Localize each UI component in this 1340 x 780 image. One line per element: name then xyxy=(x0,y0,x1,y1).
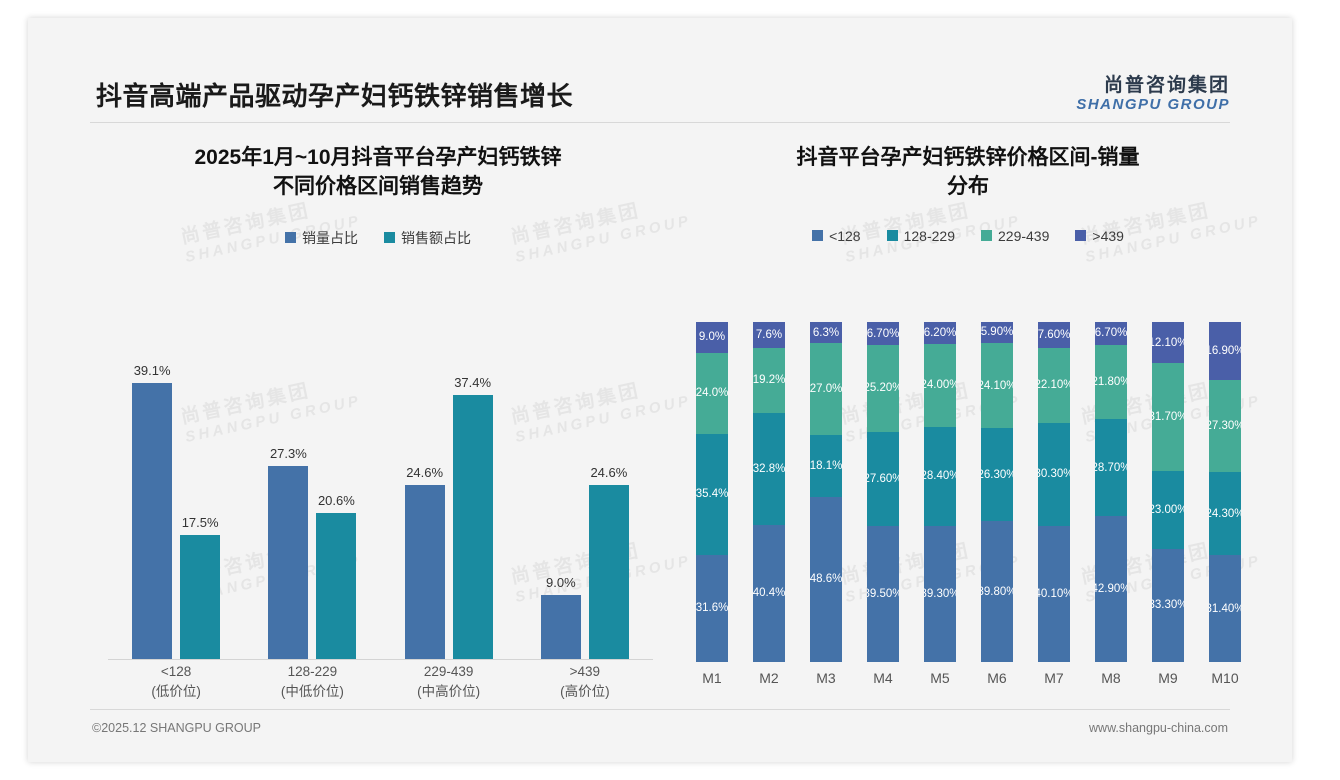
stack-segment[interactable]: 21.80% xyxy=(1095,345,1127,419)
header-divider xyxy=(90,122,1230,123)
stack-segment[interactable]: 28.40% xyxy=(924,427,956,526)
left-chart-plot-area: 39.1%17.5%27.3%20.6%24.6%37.4%9.0%24.6% … xyxy=(108,302,653,702)
stacked-bar[interactable]: 6.20%24.00%28.40%39.30% xyxy=(924,322,956,662)
logo-text-en: SHANGPU GROUP xyxy=(1076,96,1230,113)
stack-segment[interactable]: 24.0% xyxy=(696,353,728,435)
stacked-bar[interactable]: 12.10%31.70%23.00%33.30% xyxy=(1152,322,1184,662)
legend-swatch-icon xyxy=(384,232,395,243)
legend-label: 229-439 xyxy=(998,228,1049,244)
stack-segment[interactable]: 31.6% xyxy=(696,555,728,662)
bar-value-label: 20.6% xyxy=(318,493,355,508)
x-tick-label: M4 xyxy=(867,670,899,694)
left-chart-title: 2025年1月~10月抖音平台孕产妇钙铁锌 不同价格区间销售趋势 xyxy=(88,144,668,202)
legend-swatch-icon xyxy=(887,230,898,241)
bar-value-label: 37.4% xyxy=(454,375,491,390)
stacked-bar[interactable]: 7.60%22.10%30.30%40.10% xyxy=(1038,322,1070,662)
stacked-bar[interactable]: 16.90%27.30%24.30%31.40% xyxy=(1209,322,1241,662)
stack-segment[interactable]: 39.50% xyxy=(867,526,899,662)
bar-group: 24.6%37.4% xyxy=(405,301,493,659)
stack-segment[interactable]: 6.70% xyxy=(1095,322,1127,345)
right-chart-legend-item[interactable]: >439 xyxy=(1075,228,1124,244)
bar-value-label: 39.1% xyxy=(134,363,171,378)
bar-value-label: 24.6% xyxy=(590,465,627,480)
legend-swatch-icon xyxy=(285,232,296,243)
stack-segment[interactable]: 7.60% xyxy=(1038,322,1070,348)
stack-segment[interactable]: 31.40% xyxy=(1209,555,1241,662)
stack-segment[interactable]: 31.70% xyxy=(1152,363,1184,471)
stack-segment[interactable]: 24.30% xyxy=(1209,472,1241,555)
footer-copyright: ©2025.12 SHANGPU GROUP xyxy=(92,721,261,735)
bar-column[interactable]: 24.6% xyxy=(589,301,629,659)
x-tick-label: M6 xyxy=(981,670,1013,694)
stack-segment[interactable]: 7.6% xyxy=(753,322,785,348)
bar[interactable] xyxy=(453,395,493,659)
bar[interactable] xyxy=(541,595,581,659)
legend-label: >439 xyxy=(1092,228,1124,244)
left-chart-title-line1: 2025年1月~10月抖音平台孕产妇钙铁锌 xyxy=(88,144,668,173)
bar-column[interactable]: 17.5% xyxy=(180,301,220,659)
stack-segment[interactable]: 12.10% xyxy=(1152,322,1184,363)
right-chart-stacked-bars: 9.0%24.0%35.4%31.6%7.6%19.2%32.8%40.4%6.… xyxy=(696,322,1241,662)
stack-segment[interactable]: 19.2% xyxy=(753,348,785,413)
stack-segment[interactable]: 22.10% xyxy=(1038,348,1070,423)
legend-swatch-icon xyxy=(1075,230,1086,241)
bar-group: 39.1%17.5% xyxy=(132,301,220,659)
legend-label: 销售额占比 xyxy=(401,228,471,248)
left-chart-title-line2: 不同价格区间销售趋势 xyxy=(88,173,668,202)
stack-segment[interactable]: 24.00% xyxy=(924,344,956,427)
bar-value-label: 24.6% xyxy=(406,465,443,480)
stack-segment[interactable]: 48.6% xyxy=(810,497,842,662)
bar-column[interactable]: 27.3% xyxy=(268,301,308,659)
stack-segment[interactable]: 27.60% xyxy=(867,432,899,527)
stacked-bar[interactable]: 6.70%21.80%28.70%42.90% xyxy=(1095,322,1127,662)
logo-text-cn: 尚普咨询集团 xyxy=(1076,76,1230,96)
stack-segment[interactable]: 27.30% xyxy=(1209,380,1241,473)
right-chart-legend-item[interactable]: 128-229 xyxy=(887,228,955,244)
x-tick-label: M3 xyxy=(810,670,842,694)
stack-segment[interactable]: 18.1% xyxy=(810,435,842,497)
bar-column[interactable]: 9.0% xyxy=(541,301,581,659)
left-chart-legend-item[interactable]: 销售额占比 xyxy=(384,228,471,248)
x-tick-label: M1 xyxy=(696,670,728,694)
right-chart-legend-item[interactable]: 229-439 xyxy=(981,228,1049,244)
slide-header: 抖音高端产品驱动孕产妇钙铁锌销售增长 尚普咨询集团 SHANGPU GROUP xyxy=(28,18,1292,110)
page-title: 抖音高端产品驱动孕产妇钙铁锌销售增长 xyxy=(96,76,573,113)
x-tick-label: M5 xyxy=(924,670,956,694)
left-chart-x-tick-labels: <128(低价位)128-229(中低价位)229-439(中高价位)>439(… xyxy=(108,662,653,702)
right-chart-x-tick-labels: M1M2M3M4M5M6M7M8M9M10 xyxy=(696,670,1241,694)
stack-segment[interactable]: 39.80% xyxy=(981,521,1013,662)
stack-segment[interactable]: 40.4% xyxy=(753,525,785,662)
stack-segment[interactable]: 24.10% xyxy=(981,343,1013,428)
bar-group: 9.0%24.6% xyxy=(541,301,629,659)
x-tick-label: M8 xyxy=(1095,670,1127,694)
bar[interactable] xyxy=(132,383,172,659)
stack-segment[interactable]: 40.10% xyxy=(1038,526,1070,662)
stack-segment[interactable]: 27.0% xyxy=(810,343,842,435)
left-chart-panel: 2025年1月~10月抖音平台孕产妇钙铁锌 不同价格区间销售趋势 销量占比销售额… xyxy=(88,130,668,710)
bar[interactable] xyxy=(268,466,308,659)
bar-column[interactable]: 37.4% xyxy=(453,301,493,659)
legend-label: <128 xyxy=(829,228,861,244)
right-chart-title-line2: 分布 xyxy=(688,173,1248,202)
bar[interactable] xyxy=(405,485,445,659)
bar-column[interactable]: 20.6% xyxy=(316,301,356,659)
left-chart-bar-groups: 39.1%17.5%27.3%20.6%24.6%37.4%9.0%24.6% xyxy=(108,301,653,659)
stack-segment[interactable]: 28.70% xyxy=(1095,419,1127,516)
stack-segment[interactable]: 25.20% xyxy=(867,345,899,432)
bar[interactable] xyxy=(316,513,356,659)
legend-label: 销量占比 xyxy=(302,228,358,248)
right-chart-title-line1: 抖音平台孕产妇钙铁锌价格区间-销量 xyxy=(688,144,1248,173)
legend-swatch-icon xyxy=(812,230,823,241)
x-tick-label: M7 xyxy=(1038,670,1070,694)
stacked-bar[interactable]: 5.90%24.10%26.30%39.80% xyxy=(981,322,1013,662)
stack-segment[interactable]: 35.4% xyxy=(696,434,728,554)
stack-segment[interactable]: 5.90% xyxy=(981,322,1013,343)
left-chart-legend-item[interactable]: 销量占比 xyxy=(285,228,358,248)
x-tick-label: <128(低价位) xyxy=(108,662,244,702)
bar-column[interactable]: 24.6% xyxy=(405,301,445,659)
x-tick-label: M2 xyxy=(753,670,785,694)
brand-logo: 尚普咨询集团 SHANGPU GROUP xyxy=(1076,76,1230,113)
stack-segment[interactable]: 39.30% xyxy=(924,526,956,662)
stack-segment[interactable]: 6.70% xyxy=(867,322,899,345)
left-chart-legend: 销量占比销售额占比 xyxy=(88,228,668,248)
bar-group: 27.3%20.6% xyxy=(268,301,356,659)
stack-segment[interactable]: 26.30% xyxy=(981,428,1013,521)
stacked-bar[interactable]: 6.3%27.0%18.1%48.6% xyxy=(810,322,842,662)
stacked-bar[interactable]: 9.0%24.0%35.4%31.6% xyxy=(696,322,728,662)
stack-segment[interactable]: 6.3% xyxy=(810,322,842,343)
right-chart-title: 抖音平台孕产妇钙铁锌价格区间-销量 分布 xyxy=(688,144,1248,202)
stack-segment[interactable]: 42.90% xyxy=(1095,516,1127,662)
x-tick-label: 128-229(中低价位) xyxy=(244,662,380,702)
right-chart-plot-area: 9.0%24.0%35.4%31.6%7.6%19.2%32.8%40.4%6.… xyxy=(696,302,1241,702)
bar-value-label: 9.0% xyxy=(546,575,576,590)
stack-segment[interactable]: 30.30% xyxy=(1038,423,1070,526)
bar-column[interactable]: 39.1% xyxy=(132,301,172,659)
legend-swatch-icon xyxy=(981,230,992,241)
right-chart-legend-item[interactable]: <128 xyxy=(812,228,861,244)
bar[interactable] xyxy=(589,485,629,659)
right-chart-legend: <128128-229229-439>439 xyxy=(688,228,1248,244)
right-chart-panel: 抖音平台孕产妇钙铁锌价格区间-销量 分布 <128128-229229-439>… xyxy=(688,130,1248,710)
stack-segment[interactable]: 6.20% xyxy=(924,322,956,344)
legend-label: 128-229 xyxy=(904,228,955,244)
footer-website[interactable]: www.shangpu-china.com xyxy=(1089,721,1228,735)
x-tick-label: M9 xyxy=(1152,670,1184,694)
stack-segment[interactable]: 16.90% xyxy=(1209,322,1241,380)
stack-segment[interactable]: 23.00% xyxy=(1152,471,1184,549)
stack-segment[interactable]: 33.30% xyxy=(1152,549,1184,662)
stacked-bar[interactable]: 7.6%19.2%32.8%40.4% xyxy=(753,322,785,662)
x-tick-label: 229-439(中高价位) xyxy=(381,662,517,702)
bar[interactable] xyxy=(180,535,220,659)
stacked-bar[interactable]: 6.70%25.20%27.60%39.50% xyxy=(867,322,899,662)
stack-segment[interactable]: 32.8% xyxy=(753,413,785,525)
bar-value-label: 27.3% xyxy=(270,446,307,461)
left-chart-x-axis-line xyxy=(108,659,653,660)
x-tick-label: M10 xyxy=(1209,670,1241,694)
slide-canvas: 抖音高端产品驱动孕产妇钙铁锌销售增长 尚普咨询集团 SHANGPU GROUP … xyxy=(28,18,1292,762)
stack-segment[interactable]: 9.0% xyxy=(696,322,728,353)
x-tick-label: >439(高价位) xyxy=(517,662,653,702)
bar-value-label: 17.5% xyxy=(182,515,219,530)
